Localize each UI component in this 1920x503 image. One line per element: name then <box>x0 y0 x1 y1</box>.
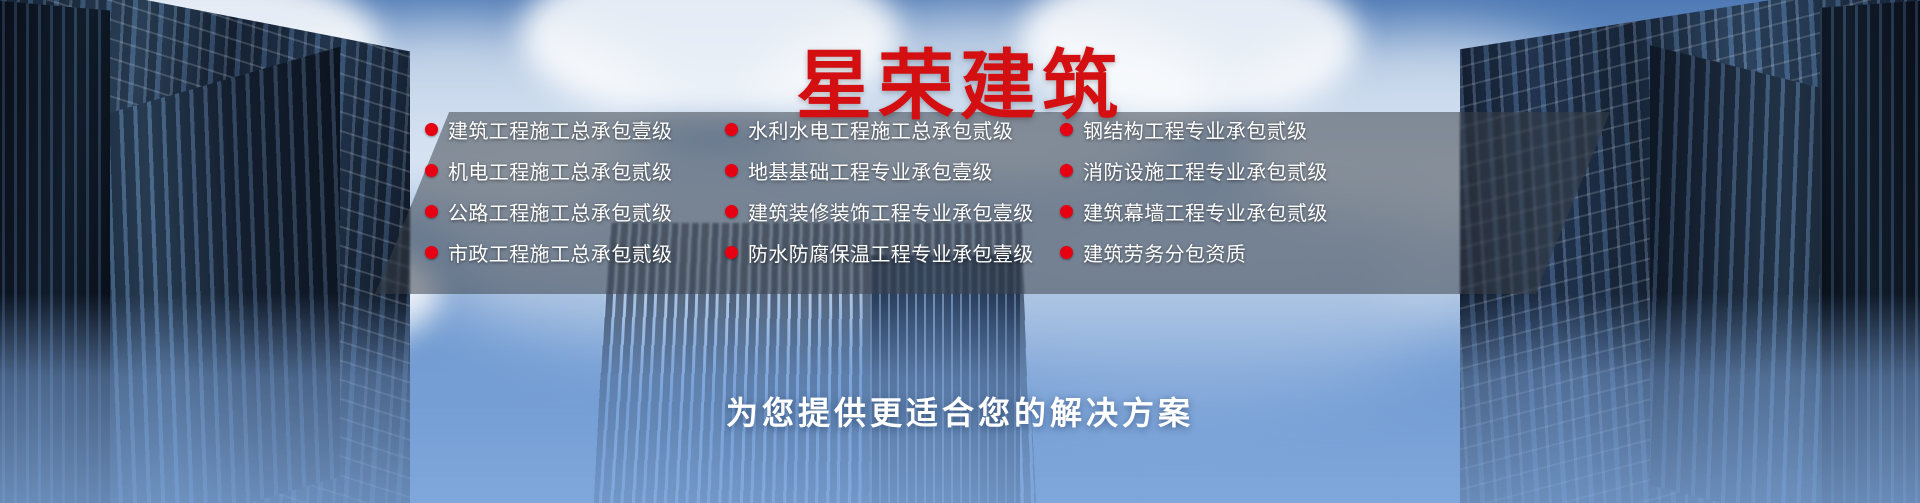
list-item: 市政工程施工总承包贰级 <box>425 235 725 269</box>
list-item: 地基基础工程专业承包壹级 <box>725 153 1060 187</box>
qualification-column-3: 钢结构工程专业承包贰级 消防设施工程专业承包贰级 建筑幕墙工程专业承包贰级 建筑… <box>1060 112 1390 294</box>
list-item: 公路工程施工总承包贰级 <box>425 194 725 228</box>
banner-tagline: 为您提供更适合您的解决方案 <box>0 388 1920 434</box>
company-title: 星荣建筑 <box>0 24 1920 134</box>
bullet-dot-icon <box>425 205 438 218</box>
bullet-dot-icon <box>1060 164 1073 177</box>
qualification-label: 建筑装修装饰工程专业承包壹级 <box>748 197 1034 226</box>
bullet-dot-icon <box>425 164 438 177</box>
bullet-dot-icon <box>725 246 738 259</box>
qualification-label: 建筑劳务分包资质 <box>1083 238 1246 267</box>
qualification-label: 消防设施工程专业承包贰级 <box>1083 156 1328 185</box>
qualification-label: 地基基础工程专业承包壹级 <box>748 156 993 185</box>
list-item: 建筑幕墙工程专业承包贰级 <box>1060 194 1390 228</box>
bullet-dot-icon <box>425 246 438 259</box>
qualification-label: 公路工程施工总承包贰级 <box>448 197 672 226</box>
qualification-label: 机电工程施工总承包贰级 <box>448 156 672 185</box>
bullet-dot-icon <box>1060 205 1073 218</box>
qualification-label: 建筑幕墙工程专业承包贰级 <box>1083 197 1328 226</box>
hero-banner: 星荣建筑 建筑工程施工总承包壹级 机电工程施工总承包贰级 公路工程施工总承包贰级 <box>0 0 1920 503</box>
list-item: 机电工程施工总承包贰级 <box>425 153 725 187</box>
list-item: 建筑装修装饰工程专业承包壹级 <box>725 194 1060 228</box>
bullet-dot-icon <box>725 164 738 177</box>
bullet-dot-icon <box>1060 246 1073 259</box>
qualification-column-1: 建筑工程施工总承包壹级 机电工程施工总承包贰级 公路工程施工总承包贰级 市政工程… <box>425 112 725 294</box>
bullet-dot-icon <box>725 205 738 218</box>
qualifications-panel: 建筑工程施工总承包壹级 机电工程施工总承包贰级 公路工程施工总承包贰级 市政工程… <box>375 112 1610 294</box>
qualification-column-2: 水利水电工程施工总承包贰级 地基基础工程专业承包壹级 建筑装修装饰工程专业承包壹… <box>725 112 1060 294</box>
qualification-label: 防水防腐保温工程专业承包壹级 <box>748 238 1034 267</box>
qualification-label: 市政工程施工总承包贰级 <box>448 238 672 267</box>
list-item: 建筑劳务分包资质 <box>1060 235 1390 269</box>
list-item: 防水防腐保温工程专业承包壹级 <box>725 235 1060 269</box>
list-item: 消防设施工程专业承包贰级 <box>1060 153 1390 187</box>
